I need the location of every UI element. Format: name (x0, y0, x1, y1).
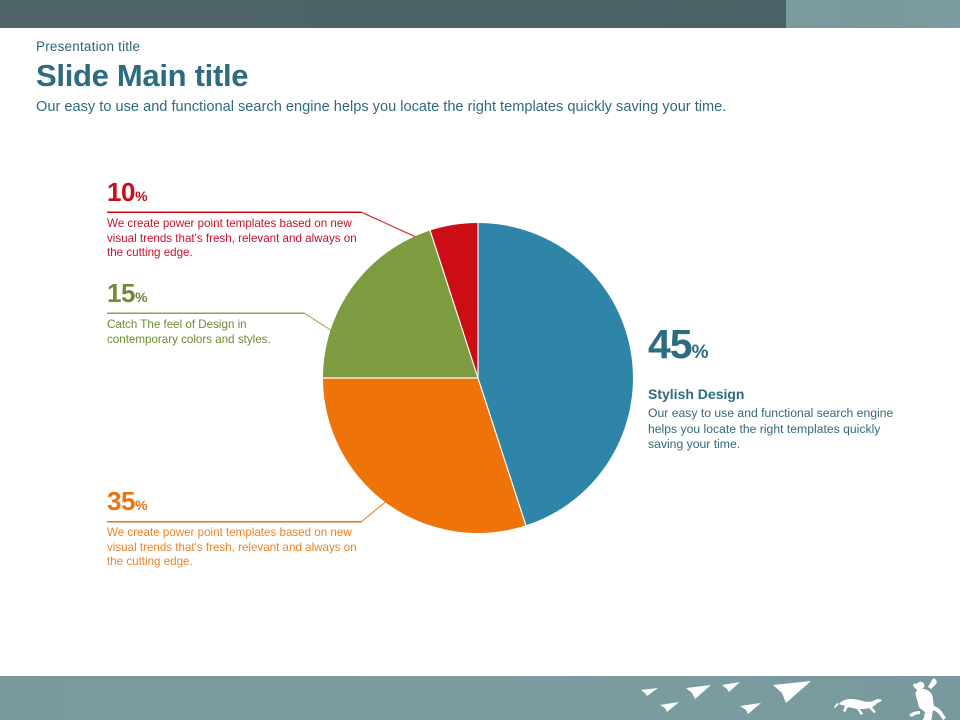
callout-35-body: We create power point templates based on… (107, 526, 361, 570)
header-bar-left-band (0, 0, 786, 28)
chart-stage: 10% We create power point templates base… (0, 150, 960, 670)
callout-10-value: 10 (107, 177, 135, 207)
callout-35-percent[interactable]: 35% We create power point templates base… (107, 487, 361, 570)
callout-45-heading: Stylish Design (648, 385, 896, 403)
callout-35-value-row: 35% (107, 487, 361, 519)
footer-bar (0, 676, 960, 720)
paper-plane-icon (660, 702, 679, 712)
callout-45-value: 45 (648, 321, 692, 367)
callout-15-value: 15 (107, 278, 135, 308)
callout-35-rule (107, 521, 361, 522)
callout-15-percent[interactable]: 15% Catch The feel of Design in contempo… (107, 279, 304, 347)
title-block: Presentation title Slide Main title Our … (36, 38, 856, 118)
callout-10-rule (107, 212, 361, 213)
footer-decorations (0, 676, 960, 720)
paper-plane-icon (722, 682, 740, 692)
callout-10-body: We create power point templates based on… (107, 217, 361, 261)
callout-45-percent[interactable]: 45% Stylish Design Our easy to use and f… (648, 322, 896, 453)
callout-45-value-row: 45% (648, 322, 896, 375)
slide-subtitle: Our easy to use and functional search en… (36, 97, 841, 118)
paper-plane-icon (740, 703, 761, 714)
paper-plane-icon (641, 688, 658, 696)
callout-15-percent-symbol: % (135, 289, 147, 305)
callout-35-percent-symbol: % (135, 497, 147, 513)
callout-45-body: Our easy to use and functional search en… (648, 406, 896, 453)
pie-chart-svg (323, 223, 633, 533)
callout-15-body: Catch The feel of Design in contemporary… (107, 318, 304, 347)
header-bar-right-band (786, 0, 960, 28)
pie-chart (323, 223, 633, 533)
callout-10-value-row: 10% (107, 178, 361, 210)
slide-main-title: Slide Main title (36, 58, 856, 94)
callout-10-percent-symbol: % (135, 188, 147, 204)
dog-silhouette-icon (834, 699, 882, 715)
callout-35-value: 35 (107, 486, 135, 516)
presentation-title-eyebrow: Presentation title (36, 38, 856, 56)
header-bar (0, 0, 960, 28)
callout-45-percent-symbol: % (692, 342, 709, 363)
child-silhouette-icon (909, 679, 946, 720)
paper-plane-icon (773, 681, 811, 703)
paper-plane-icon (686, 685, 711, 699)
callout-15-rule (107, 313, 304, 314)
callout-10-percent[interactable]: 10% We create power point templates base… (107, 178, 361, 261)
callout-15-value-row: 15% (107, 279, 304, 311)
